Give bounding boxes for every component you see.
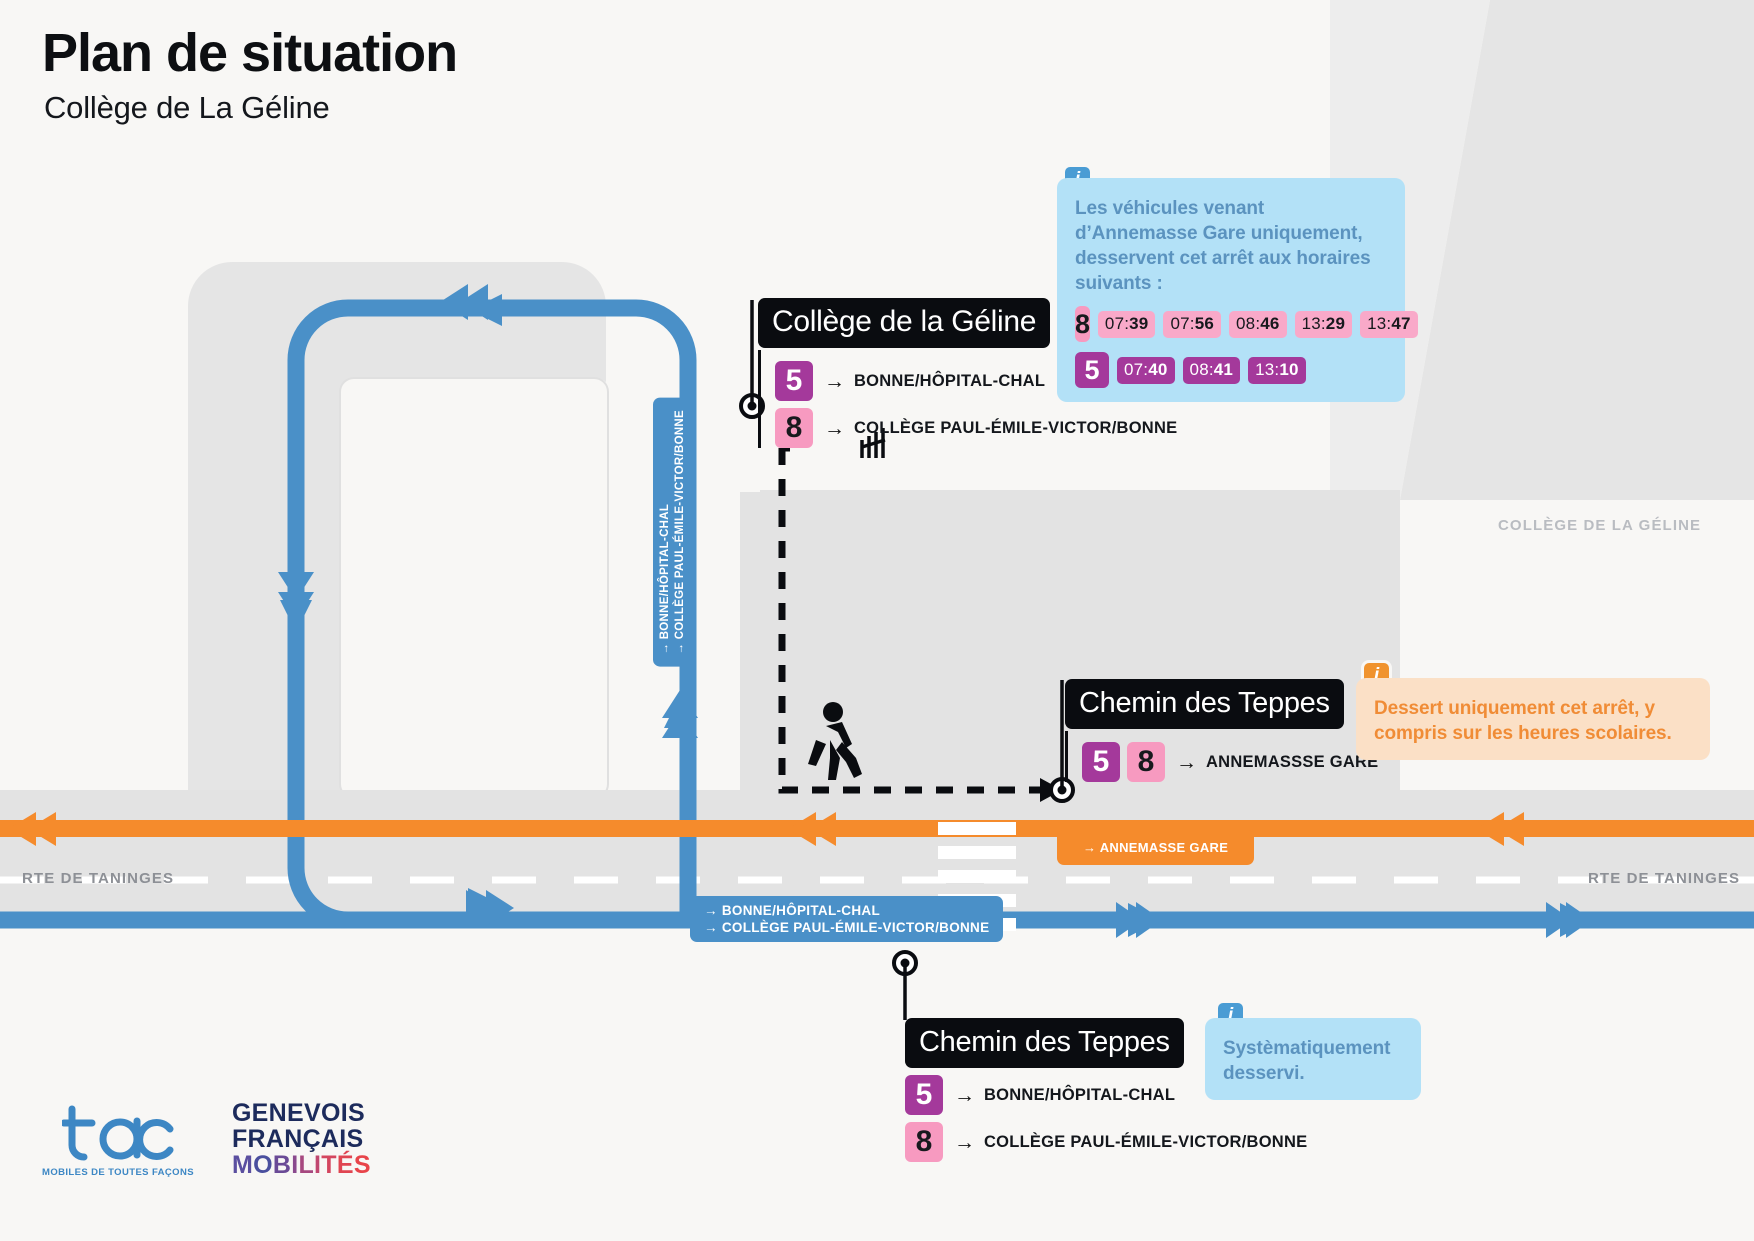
genevois-francais-mobilites-logo: GENEVOIS FRANÇAIS MOBILITÉS: [232, 1100, 371, 1178]
route-direction-1: → BONNE/HÔPITAL-CHAL: [659, 504, 671, 655]
arrow-icon: →: [954, 1132, 975, 1153]
callout-text: Dessert uniquement cet arrêt, y compris …: [1374, 694, 1692, 746]
route-direction-2: → COLLÈGE PAUL-ÉMILE-VICTOR/BONNE: [674, 410, 686, 655]
time-chip: 07:40: [1117, 357, 1175, 384]
tac-logo-mark: [62, 1103, 174, 1165]
arrow-icon: →: [824, 418, 845, 439]
time-chip: 13:47: [1360, 311, 1418, 338]
blue-route-label: → BONNE/HÔPITAL-CHAL → COLLÈGE PAUL-ÉMIL…: [690, 896, 1003, 942]
callout-teppes-sud: Systèmatiquement desservi.: [1205, 1018, 1421, 1100]
tac-logo: MOBILES DE TOUTES FAÇONS: [42, 1103, 194, 1178]
arrow-icon: →: [954, 1085, 975, 1106]
logo-bar: MOBILES DE TOUTES FAÇONS GENEVOIS FRANÇA…: [42, 1100, 371, 1178]
time-chip: 08:41: [1183, 357, 1241, 384]
callout-text: Systèmatiquement desservi.: [1223, 1034, 1403, 1086]
line-destination-row[interactable]: 8 → COLLÈGE PAUL-ÉMILE-VICTOR/BONNE: [775, 408, 1177, 448]
arrow-icon: →: [1176, 752, 1197, 773]
time-chip: 07:56: [1163, 311, 1221, 338]
logo-line-2: FRANÇAIS: [232, 1126, 371, 1152]
logo-line-1: GENEVOIS: [232, 1100, 371, 1126]
destination-label: COLLÈGE PAUL-ÉMILE-VICTOR/BONNE: [984, 1133, 1307, 1152]
callout-teppes-nord: Dessert uniquement cet arrêt, y compris …: [1356, 678, 1710, 760]
callout-schedule: Les véhicules venant d’Annemasse Gare un…: [1057, 178, 1405, 402]
line-badge-5[interactable]: 5: [1082, 742, 1120, 782]
page-header: Plan de situation Collège de La Géline: [42, 22, 457, 126]
line-badge-5[interactable]: 5: [1075, 352, 1109, 388]
schedule-row-8: 8 07:39 07:56 08:46 13:29 13:47: [1075, 306, 1387, 342]
stop-chemin-des-teppes-nord[interactable]: Chemin des Teppes 5 8 → ANNEMASSSE GARE: [1065, 679, 1378, 782]
street-name-left: RTE DE TANINGES: [22, 870, 174, 887]
line-badge-5[interactable]: 5: [775, 361, 813, 401]
stop-name-plaque: Chemin des Teppes: [1065, 679, 1344, 729]
stop-name-plaque: Collège de la Géline: [758, 298, 1050, 348]
destination-label: ANNEMASSSE GARE: [1206, 753, 1378, 772]
destination-label: BONNE/HÔPITAL-CHAL: [854, 372, 1045, 391]
line-badge-8[interactable]: 8: [905, 1122, 943, 1162]
destination-label: BONNE/HÔPITAL-CHAL: [984, 1086, 1175, 1105]
page-subtitle: Collège de La Géline: [44, 90, 457, 126]
tac-tagline: MOBILES DE TOUTES FAÇONS: [42, 1167, 194, 1178]
time-chip: 08:46: [1229, 311, 1287, 338]
orange-route-label: → ANNEMASSE GARE: [1057, 830, 1254, 865]
page-title: Plan de situation: [42, 22, 457, 84]
callout-text: Les véhicules venant d’Annemasse Gare un…: [1075, 194, 1387, 296]
line-badge-8[interactable]: 8: [1075, 306, 1090, 342]
destination-label: COLLÈGE PAUL-ÉMILE-VICTOR/BONNE: [854, 419, 1177, 438]
time-chip: 13:29: [1295, 311, 1353, 338]
time-chip: 07:39: [1098, 311, 1156, 338]
stop-name-plaque: Chemin des Teppes: [905, 1018, 1184, 1068]
route-direction-1: → BONNE/HÔPITAL-CHAL: [704, 902, 989, 919]
vertical-route-label: → BONNE/HÔPITAL-CHAL → COLLÈGE PAUL-ÉMIL…: [653, 398, 693, 667]
line-badge-5[interactable]: 5: [905, 1075, 943, 1115]
arrow-icon: →: [824, 371, 845, 392]
line-destination-row[interactable]: 5 8 → ANNEMASSSE GARE: [1082, 742, 1378, 782]
time-chip: 13:10: [1248, 357, 1306, 384]
situation-map: [0, 0, 1754, 1241]
logo-line-3: MOBILITÉS: [232, 1152, 371, 1178]
line-destination-row[interactable]: 8 → COLLÈGE PAUL-ÉMILE-VICTOR/BONNE: [905, 1122, 1307, 1162]
line-badge-8[interactable]: 8: [1127, 742, 1165, 782]
building-label: COLLÈGE DE LA GÉLINE: [1498, 517, 1701, 534]
route-direction-2: → COLLÈGE PAUL-ÉMILE-VICTOR/BONNE: [704, 919, 989, 936]
schedule-row-5: 5 07:40 08:41 13:10: [1075, 352, 1387, 388]
street-name-right: RTE DE TANINGES: [1588, 870, 1740, 887]
line-badge-8[interactable]: 8: [775, 408, 813, 448]
